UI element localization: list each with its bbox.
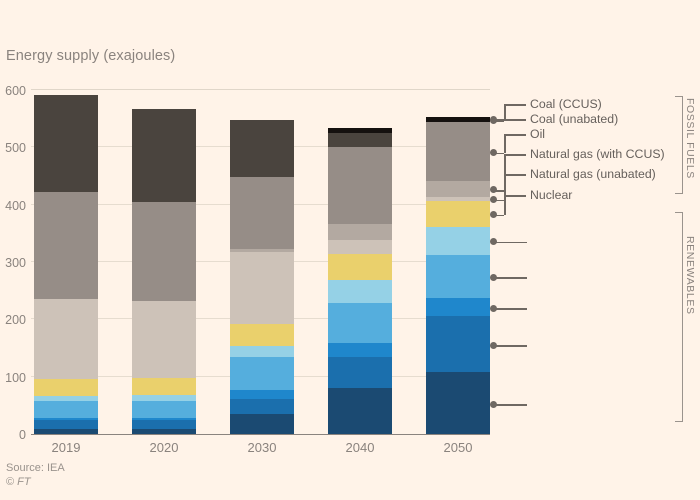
bar-segment[interactable] (132, 202, 196, 301)
bar-2040[interactable] (328, 128, 392, 434)
bar-2019[interactable] (34, 95, 98, 434)
bar-segment[interactable] (132, 420, 196, 429)
bracket-fossil-fuels (675, 96, 683, 194)
bar-segment[interactable] (328, 303, 392, 343)
bar-segment[interactable] (328, 343, 392, 356)
legend-leader-line (494, 190, 504, 192)
bar-segment[interactable] (328, 147, 392, 224)
x-axis-tick-label: 2030 (230, 440, 294, 455)
bar-segment[interactable] (34, 192, 98, 300)
legend-leader-line (494, 277, 527, 279)
y-axis-tick-label: 300 (0, 256, 26, 270)
legend-leader-line (494, 308, 527, 310)
copyright-label: FT (17, 476, 30, 488)
bar-segment[interactable] (230, 399, 294, 414)
bar-segment[interactable] (230, 324, 294, 346)
legend-leader-line (504, 119, 526, 121)
bracket-renewables (675, 212, 683, 422)
legend-leader-line (494, 153, 504, 155)
legend-leader-line (504, 195, 506, 215)
bar-segment[interactable] (132, 429, 196, 434)
bar-segment[interactable] (426, 298, 490, 316)
legend-leader-line (504, 134, 506, 153)
copyright-note: © FT (6, 476, 31, 488)
bar-segment[interactable] (328, 133, 392, 148)
bar-segment[interactable] (132, 109, 196, 202)
bar-segment[interactable] (426, 181, 490, 196)
bar-segment[interactable] (34, 401, 98, 418)
y-axis-tick-label: 600 (0, 84, 26, 98)
bar-segment[interactable] (426, 372, 490, 434)
x-axis-tick-label: 2019 (34, 440, 98, 455)
bar-segment[interactable] (426, 201, 490, 227)
x-axis-tick-label: 2020 (132, 440, 196, 455)
page-title: Energy supply (exajoules) (6, 48, 175, 64)
y-axis-tick-label: 200 (0, 313, 26, 327)
bar-segment[interactable] (132, 401, 196, 418)
legend-label: Coal (unabated) (530, 112, 618, 126)
legend-label: Natural gas (unabated) (530, 167, 656, 181)
source-note: Source: IEA (6, 462, 65, 474)
chart-root: Energy supply (exajoules) 01002003004005… (0, 0, 700, 500)
legend-label: Coal (CCUS) (530, 97, 602, 111)
legend-leader-line (494, 242, 527, 244)
y-axis-tick-label: 400 (0, 199, 26, 213)
bar-segment[interactable] (230, 414, 294, 434)
legend-label: Natural gas (with CCUS) (530, 147, 665, 161)
legend-leader-line (494, 345, 527, 347)
bar-2020[interactable] (132, 109, 196, 434)
chart-legend: Coal (CCUS)Coal (unabated)OilNatural gas… (490, 86, 700, 438)
bar-2030[interactable] (230, 120, 294, 434)
bar-segment[interactable] (230, 390, 294, 399)
bar-segment[interactable] (426, 316, 490, 372)
legend-label: Nuclear (530, 188, 572, 202)
bar-segment[interactable] (132, 301, 196, 378)
y-axis-tick-label: 0 (0, 428, 26, 442)
bar-segment[interactable] (328, 224, 392, 239)
legend-leader-line (494, 215, 504, 217)
legend-leader-line (494, 119, 504, 121)
bar-segment[interactable] (328, 357, 392, 389)
bar-segment[interactable] (230, 120, 294, 177)
bar-segment[interactable] (426, 255, 490, 299)
bar-segment[interactable] (132, 378, 196, 395)
legend-leader-line (504, 174, 526, 176)
legend-label: Oil (530, 127, 545, 141)
legend-leader-line (504, 104, 526, 106)
y-axis-tick-label: 100 (0, 371, 26, 385)
bar-segment[interactable] (230, 177, 294, 249)
bar-segment[interactable] (34, 299, 98, 379)
legend-leader-line (494, 200, 504, 202)
bar-segment[interactable] (426, 122, 490, 181)
copyright-symbol: © (6, 476, 14, 488)
bar-segment[interactable] (34, 420, 98, 429)
bar-segment[interactable] (328, 280, 392, 303)
bar-segment[interactable] (328, 254, 392, 280)
bar-segment[interactable] (34, 429, 98, 434)
bar-segment[interactable] (230, 357, 294, 390)
plot-area: 0100200300400500600 (31, 90, 490, 434)
bar-segment[interactable] (34, 95, 98, 191)
legend-leader-line (504, 195, 526, 197)
legend-leader-line (504, 134, 526, 136)
bracket-label-renewables: RENEWABLES (684, 236, 696, 396)
legend-leader-line (504, 154, 526, 156)
bar-segment[interactable] (34, 379, 98, 396)
y-axis-tick-label: 500 (0, 141, 26, 155)
gridline (31, 89, 490, 90)
bar-segment[interactable] (230, 346, 294, 357)
bracket-label-fossil-fuels: FOSSIL FUELS (684, 98, 696, 192)
x-axis-tick-label: 2040 (328, 440, 392, 455)
bar-segment[interactable] (328, 240, 392, 254)
bar-2050[interactable] (426, 117, 490, 434)
bar-segment[interactable] (230, 252, 294, 324)
bar-segment[interactable] (426, 227, 490, 255)
bar-segment[interactable] (328, 388, 392, 434)
x-axis-tick-label: 2050 (426, 440, 490, 455)
legend-leader-line (494, 404, 527, 406)
